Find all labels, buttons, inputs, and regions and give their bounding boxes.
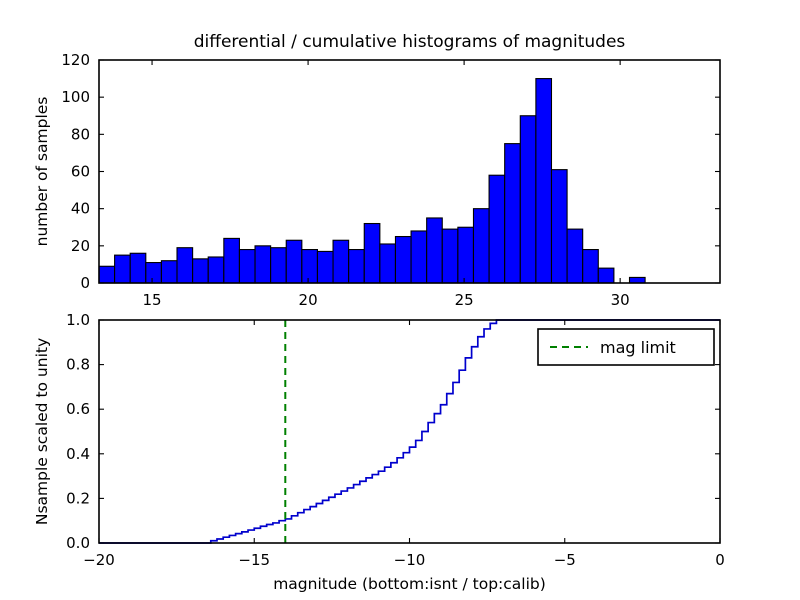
x-tick-label-bottom: −15 (238, 551, 270, 569)
histogram-bar (193, 259, 209, 283)
histogram-bar (177, 248, 193, 283)
histogram-bar (115, 255, 131, 283)
histogram-bar (333, 240, 349, 283)
x-tick-label-bottom: −20 (83, 551, 115, 569)
x-tick-label-top: 25 (455, 291, 474, 309)
y-tick-label-top: 0 (80, 274, 90, 292)
histogram-bar (99, 266, 115, 283)
histogram-bar (239, 250, 255, 283)
plot-canvas: 02040608010012015202530number of samples… (0, 0, 800, 600)
x-tick-label-top: 30 (611, 291, 630, 309)
y-tick-label-bottom: 0.2 (66, 489, 90, 507)
y-tick-label-top: 80 (71, 125, 90, 143)
figure-title: differential / cumulative histograms of … (194, 32, 626, 52)
histogram-bar (536, 79, 552, 283)
histogram-bar (286, 240, 302, 283)
histogram-bar (161, 261, 177, 283)
histogram-bar (130, 253, 146, 283)
top-panel-differential-histogram: 02040608010012015202530number of samples… (33, 32, 720, 309)
histogram-bar (364, 224, 380, 283)
histogram-bar (302, 250, 318, 283)
x-tick-label-bottom: 0 (715, 551, 725, 569)
histogram-bar (317, 251, 333, 283)
histogram-bar (442, 229, 458, 283)
matplotlib-figure: 02040608010012015202530number of samples… (0, 0, 800, 600)
histogram-bar (520, 116, 536, 283)
y-tick-label-bottom: 0.0 (66, 534, 90, 552)
histogram-bar (551, 170, 567, 283)
histogram-bar (583, 250, 599, 283)
histogram-bar (146, 263, 162, 283)
histogram-bar (458, 227, 474, 283)
histogram-bar (224, 238, 240, 283)
histogram-bar (208, 257, 224, 283)
histogram-bar (489, 175, 505, 283)
y-tick-label-top: 20 (71, 237, 90, 255)
x-tick-label-top: 20 (299, 291, 318, 309)
y-tick-label-bottom: 0.8 (66, 356, 90, 374)
x-tick-label-top: 15 (143, 291, 162, 309)
y-tick-label-bottom: 0.6 (66, 400, 90, 418)
y-tick-label-top: 60 (71, 163, 90, 181)
legend-label-mag-limit: mag limit (600, 338, 676, 357)
histogram-bar (380, 244, 396, 283)
y-tick-label-top: 100 (61, 88, 90, 106)
histogram-bar (630, 277, 646, 283)
histogram-bar (255, 246, 271, 283)
histogram-bar (505, 144, 521, 283)
histogram-bar (598, 268, 614, 283)
histogram-bar (395, 237, 411, 283)
y-tick-label-top: 40 (71, 200, 90, 218)
histogram-bar (271, 248, 287, 283)
histogram-bar (473, 209, 489, 283)
y-tick-label-bottom: 1.0 (66, 311, 90, 329)
legend: mag limit (538, 329, 714, 365)
x-tick-label-bottom: −5 (554, 551, 576, 569)
y-tick-label-top: 120 (61, 51, 90, 69)
y-axis-label-bottom: Nsample scaled to unity (33, 338, 51, 525)
x-tick-label-bottom: −10 (394, 551, 426, 569)
histogram-bar (411, 231, 427, 283)
x-axis-label-bottom: magnitude (bottom:isnt / top:calib) (273, 575, 546, 593)
y-tick-label-bottom: 0.4 (66, 445, 90, 463)
histogram-bar (427, 218, 443, 283)
histogram-bar (349, 250, 365, 283)
y-axis-label-top: number of samples (33, 97, 51, 247)
histogram-bar (567, 229, 583, 283)
